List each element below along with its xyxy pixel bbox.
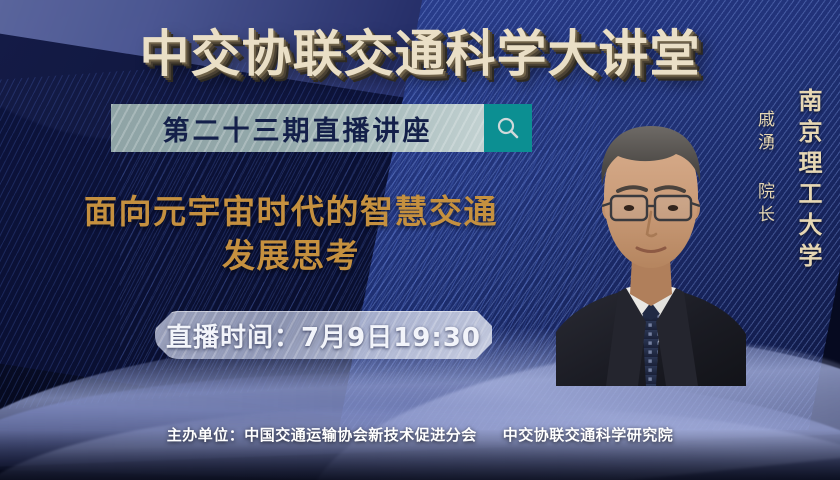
search-button[interactable] <box>484 104 532 152</box>
speaker-affiliation: 南京理工大学 <box>791 88 826 274</box>
footer-organizers: 主办单位：中国交通运输协会新技术促进分会中交协联交通科学研究院 <box>0 424 840 445</box>
broadcast-time-badge: 直播时间：7月9日19:30 <box>155 311 492 359</box>
poster-headline: 中交协联交通科学大讲堂 <box>0 14 840 86</box>
lecture-title: 面向元宇宙时代的智慧交通 发展思考 <box>26 190 556 278</box>
episode-label: 第二十三期直播讲座 <box>163 109 433 148</box>
speaker-name-title: 戚湧 院长 <box>752 110 777 228</box>
footer-label: 主办单位： <box>167 426 245 444</box>
lecture-title-line-2: 发展思考 <box>26 234 556 278</box>
broadcast-time-label: 直播时间：7月9日19:30 <box>166 317 481 354</box>
speaker-portrait <box>556 96 746 386</box>
episode-banner-background: 第二十三期直播讲座 <box>111 104 484 152</box>
episode-banner: 第二十三期直播讲座 <box>111 104 532 152</box>
lecture-title-line-1: 面向元宇宙时代的智慧交通 <box>26 190 556 234</box>
live-lecture-poster: 中交协联交通科学大讲堂 第二十三期直播讲座 面向元宇宙时代的智慧交通 发展思考 … <box>0 0 840 480</box>
search-icon <box>495 115 521 141</box>
footer-organizer-1: 中国交通运输协会新技术促进分会 <box>244 426 477 444</box>
footer-organizer-2: 中交协联交通科学研究院 <box>503 426 674 444</box>
speaker-info: 戚湧 院长 南京理工大学 <box>752 88 826 274</box>
